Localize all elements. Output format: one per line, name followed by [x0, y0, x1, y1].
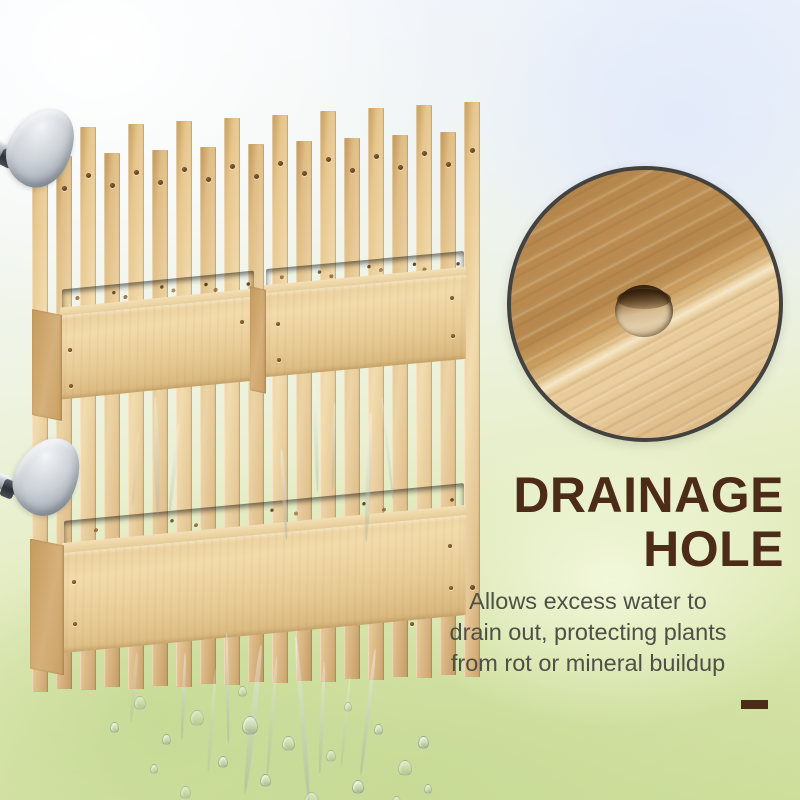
- box-screw: [450, 296, 454, 300]
- woodgrain-upper-right: [264, 275, 466, 377]
- water-droplet: [282, 736, 295, 751]
- water-droplet: [352, 780, 364, 794]
- water-droplet: [374, 724, 383, 735]
- water-droplet: [150, 764, 158, 774]
- drainage-hole: [615, 285, 673, 337]
- left-end-lower: [30, 539, 64, 676]
- water-droplet: [218, 756, 228, 768]
- box-screw: [72, 580, 76, 584]
- water-droplet: [190, 710, 204, 726]
- watering-can-rose-middle: [2, 426, 93, 525]
- water-droplet: [162, 734, 171, 745]
- water-droplet: [398, 760, 412, 776]
- product-feature-image: DRAINAGE HOLE Allows excess water to dra…: [0, 0, 800, 800]
- picket-screw-hole: [254, 174, 259, 179]
- box-screw: [69, 384, 73, 388]
- feature-description: Allows excess water to drain out, protec…: [392, 586, 784, 679]
- picket-screw-hole: [470, 148, 475, 153]
- picket-screw-hole: [134, 170, 139, 175]
- water-droplet: [134, 696, 146, 710]
- water-droplet: [326, 750, 336, 762]
- box-screw: [240, 320, 244, 324]
- accent-dash: [741, 700, 768, 709]
- woodgrain-upper-left: [60, 296, 256, 399]
- water-droplet: [344, 702, 352, 712]
- picket-screw-hole: [230, 164, 235, 169]
- water-droplet: [238, 686, 247, 697]
- left-end-upper-right: [250, 286, 266, 393]
- picket-screw-hole: [398, 165, 403, 170]
- upper-left-planter: [32, 272, 258, 402]
- picket-screw-hole: [374, 154, 379, 159]
- body-line-3: from rot or mineral buildup: [392, 648, 784, 679]
- watering-can-top: [0, 100, 104, 200]
- drainage-hole-closeup: [507, 166, 783, 442]
- picket-screw-hole: [278, 161, 283, 166]
- picket-screw-hole: [206, 177, 211, 182]
- picket-screw-hole: [302, 171, 307, 176]
- water-streak: [312, 382, 319, 492]
- water-droplet: [260, 774, 271, 787]
- headline-line-2: HOLE: [392, 522, 784, 576]
- page-title: DRAINAGE HOLE: [392, 468, 784, 576]
- picket-screw-hole: [110, 183, 115, 188]
- front-face-upper-left: [60, 296, 256, 399]
- water-droplet: [180, 786, 191, 799]
- box-screw: [276, 322, 280, 326]
- watering-can-middle: [0, 424, 110, 524]
- picket-screw-hole: [422, 151, 427, 156]
- box-screw: [68, 348, 72, 352]
- box-screw: [451, 334, 455, 338]
- picket-screw-hole: [182, 167, 187, 172]
- upper-right-planter: [254, 252, 468, 382]
- water-droplet: [424, 784, 432, 794]
- box-screw: [277, 358, 281, 362]
- box-screw: [73, 622, 77, 626]
- body-line-2: drain out, protecting plants: [392, 617, 784, 648]
- picket-screw-hole: [350, 168, 355, 173]
- picket-screw-hole: [446, 162, 451, 167]
- water-droplet: [242, 716, 258, 735]
- water-droplet: [110, 722, 119, 733]
- watering-can-rose-top: [0, 96, 88, 198]
- picket-screw-hole: [158, 180, 163, 185]
- front-face-upper-right: [264, 275, 466, 377]
- water-droplet: [418, 736, 429, 749]
- headline-line-1: DRAINAGE: [392, 468, 784, 522]
- body-line-1: Allows excess water to: [392, 586, 784, 617]
- picket-screw-hole: [326, 157, 331, 162]
- left-end-upper-left: [32, 309, 62, 421]
